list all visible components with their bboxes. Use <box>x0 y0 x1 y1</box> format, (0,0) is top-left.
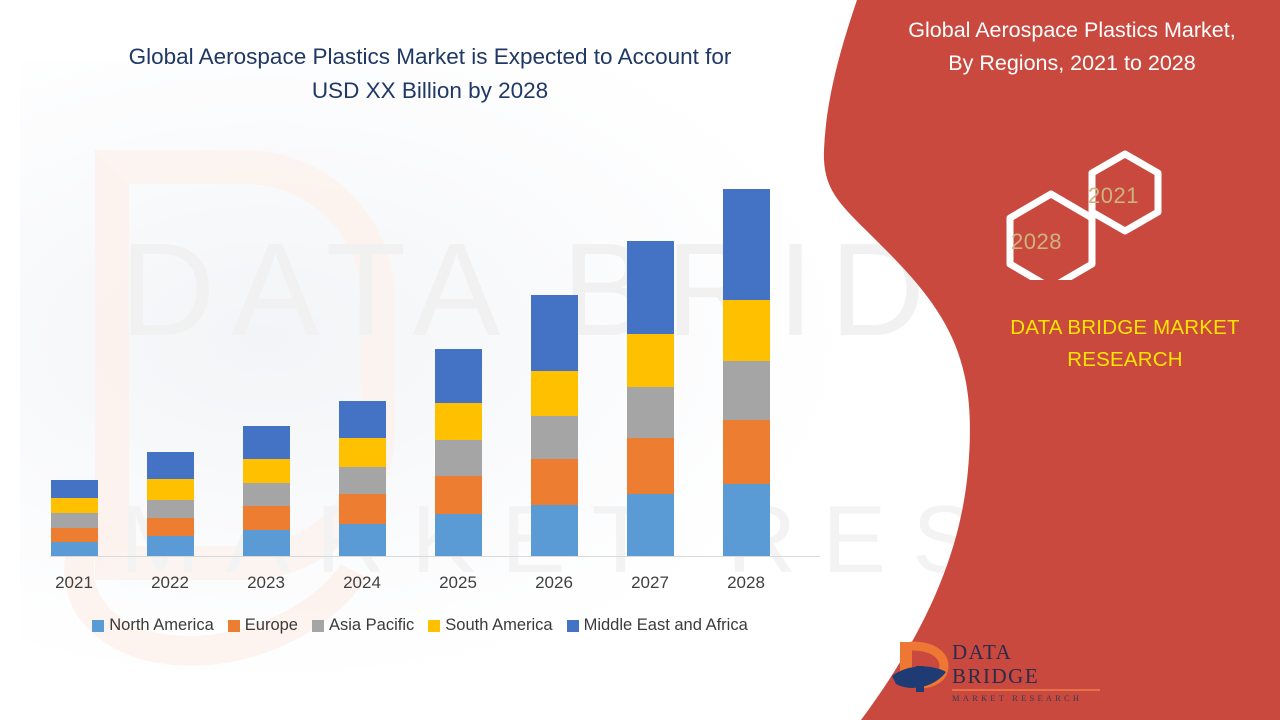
legend-label: Middle East and Africa <box>584 616 748 635</box>
bar-segment <box>147 536 194 556</box>
bar-segment <box>723 300 770 361</box>
x-axis-line <box>50 556 820 557</box>
bar-segment <box>243 426 290 458</box>
bar-segment <box>339 494 386 523</box>
legend-swatch-icon <box>228 620 240 632</box>
x-axis-label: 2024 <box>322 573 402 593</box>
legend-swatch-icon <box>312 620 324 632</box>
x-axis-label: 2022 <box>130 573 210 593</box>
legend-label: Europe <box>245 616 298 635</box>
bar-segment <box>147 479 194 500</box>
logo-name-line1: DATA BRIDGE <box>952 640 1102 688</box>
bar-segment <box>627 494 674 556</box>
bar-2022[interactable] <box>147 452 194 556</box>
bar-segment <box>531 295 578 371</box>
bar-segment <box>339 438 386 466</box>
bar-segment <box>339 401 386 438</box>
bar-segment <box>51 528 98 543</box>
hexagon-group: 2021 2028 <box>985 150 1185 280</box>
x-axis-label: 2023 <box>226 573 306 593</box>
right-panel-brand: DATA BRIDGE MARKET RESEARCH <box>960 312 1280 376</box>
bar-segment <box>243 483 290 506</box>
bar-segment <box>627 438 674 494</box>
bar-segment <box>243 459 290 484</box>
bar-segment <box>723 361 770 420</box>
bar-segment <box>627 334 674 387</box>
bar-segment <box>435 476 482 514</box>
legend-swatch-icon <box>428 620 440 632</box>
bar-2021[interactable] <box>51 480 98 556</box>
stacked-bar-chart: 20212022202320242025202620272028 North A… <box>0 0 840 720</box>
bar-segment <box>51 513 98 528</box>
bar-2024[interactable] <box>339 401 386 556</box>
bar-2025[interactable] <box>435 349 482 556</box>
legend-label: North America <box>109 616 214 635</box>
bar-2027[interactable] <box>627 241 674 556</box>
legend-item[interactable]: North America <box>92 616 214 635</box>
right-panel-title-line1: Global Aerospace Plastics Market, <box>872 14 1272 47</box>
bar-2023[interactable] <box>243 426 290 556</box>
logo-mark-icon <box>890 636 952 694</box>
brand-line1: DATA BRIDGE MARKET <box>960 312 1280 344</box>
x-axis-label: 2026 <box>514 573 594 593</box>
legend-label: Asia Pacific <box>329 616 414 635</box>
bar-segment <box>147 452 194 479</box>
legend-swatch-icon <box>92 620 104 632</box>
bar-segment <box>435 349 482 403</box>
bar-segment <box>723 420 770 485</box>
brand-line2: RESEARCH <box>960 344 1280 376</box>
bar-segment <box>147 518 194 537</box>
x-axis-labels: 20212022202320242025202620272028 <box>0 573 840 601</box>
bar-segment <box>627 387 674 438</box>
bar-segment <box>339 467 386 494</box>
bar-segment <box>339 524 386 556</box>
legend-item[interactable]: Europe <box>228 616 298 635</box>
bar-segment <box>531 459 578 505</box>
bar-segment <box>723 484 770 556</box>
legend-item[interactable]: Middle East and Africa <box>567 616 748 635</box>
bar-segment <box>435 514 482 556</box>
data-bridge-logo: DATA BRIDGE MARKET RESEARCH <box>890 636 1100 698</box>
hexagon-label-2021: 2021 <box>1088 183 1139 209</box>
bar-segment <box>147 500 194 518</box>
bar-segment <box>51 480 98 498</box>
right-panel-title-line2: By Regions, 2021 to 2028 <box>872 47 1272 80</box>
bar-segment <box>627 241 674 334</box>
bar-segment <box>435 403 482 440</box>
bar-2028[interactable] <box>723 189 770 556</box>
hexagon-label-2028: 2028 <box>1011 229 1062 255</box>
bar-segment <box>51 498 98 513</box>
bar-segment <box>51 542 98 556</box>
bar-segment <box>723 189 770 300</box>
logo-divider <box>952 689 1100 691</box>
right-panel-title: Global Aerospace Plastics Market, By Reg… <box>872 14 1272 80</box>
logo-name-line2: MARKET RESEARCH <box>952 693 1102 703</box>
x-axis-label: 2027 <box>610 573 690 593</box>
legend-label: South America <box>445 616 552 635</box>
bar-segment <box>531 371 578 416</box>
x-axis-label: 2025 <box>418 573 498 593</box>
bar-segment <box>531 416 578 459</box>
bar-segment <box>531 505 578 556</box>
x-axis-label: 2028 <box>706 573 786 593</box>
x-axis-label: 2021 <box>34 573 114 593</box>
chart-legend: North AmericaEuropeAsia PacificSouth Ame… <box>0 616 840 635</box>
logo-text: DATA BRIDGE MARKET RESEARCH <box>952 640 1102 703</box>
bar-2026[interactable] <box>531 295 578 556</box>
legend-item[interactable]: South America <box>428 616 552 635</box>
infographic-canvas: DATA BRIDGE MARKET RESEARCH Global Aeros… <box>0 0 1280 720</box>
legend-item[interactable]: Asia Pacific <box>312 616 414 635</box>
bar-segment <box>243 506 290 531</box>
bar-segment <box>435 440 482 475</box>
legend-swatch-icon <box>567 620 579 632</box>
bar-segment <box>243 530 290 556</box>
